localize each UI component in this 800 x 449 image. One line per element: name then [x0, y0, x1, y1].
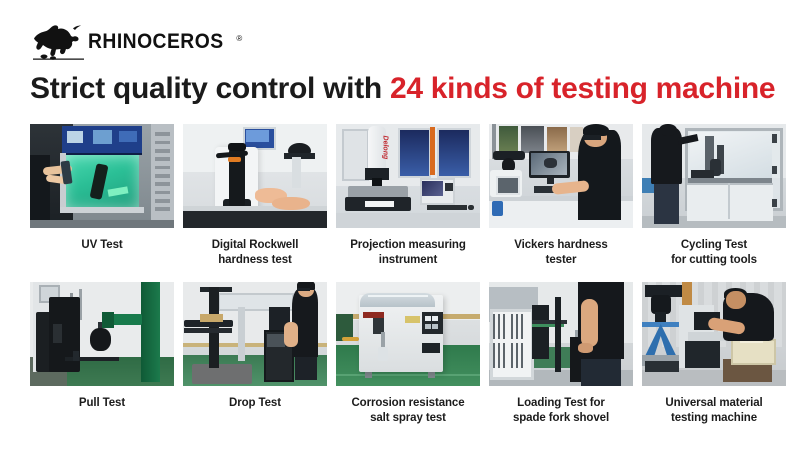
- caption-line-1: Pull Test: [30, 396, 174, 411]
- caption-line-1: UV Test: [30, 238, 174, 253]
- caption-line-1: Cycling Test: [642, 238, 786, 253]
- gallery-row-2: Pull Test Drop Test: [30, 282, 774, 425]
- caption-line-2: for cutting tools: [642, 253, 786, 268]
- digital-rockwell-hardness-tester-photo: [183, 124, 327, 228]
- projection-brand-label: Delong: [366, 136, 389, 152]
- title-lead: Strict quality control with: [30, 72, 390, 105]
- gallery-caption: Projection measuring instrument: [336, 238, 480, 267]
- gallery-item-universal-material[interactable]: Universal material testing machine: [642, 282, 786, 425]
- gallery-item-uv-test[interactable]: UV Test: [30, 124, 174, 267]
- caption-line-2: spade fork shovel: [489, 411, 633, 426]
- vickers-hardness-tester-photo: [489, 124, 633, 228]
- registered-mark: ®: [236, 35, 242, 43]
- gallery-item-salt-spray[interactable]: Corrosion resistance salt spray test: [336, 282, 480, 425]
- logo-text: RHINOCEROS: [88, 31, 224, 52]
- gallery-item-drop-test[interactable]: Drop Test: [183, 282, 327, 425]
- gallery-row-1: UV Test Digital Rockwell hardness test: [30, 124, 774, 267]
- caption-line-2: salt spray test: [336, 411, 480, 426]
- caption-line-2: testing machine: [642, 411, 786, 426]
- gallery-caption: Cycling Test for cutting tools: [642, 238, 786, 267]
- logo-wordmark: RHINOCEROS ®: [88, 31, 242, 52]
- caption-line-1: Drop Test: [183, 396, 327, 411]
- gallery-caption: Universal material testing machine: [642, 396, 786, 425]
- gallery-item-loading-test[interactable]: Loading Test for spade fork shovel: [489, 282, 633, 425]
- pull-test-rig-photo: [30, 282, 174, 386]
- testing-machine-gallery: UV Test Digital Rockwell hardness test: [30, 124, 774, 426]
- projection-measuring-instrument-photo: Delong: [336, 124, 480, 228]
- page-title: Strict quality control with 24 kinds of …: [30, 72, 778, 105]
- caption-line-2: instrument: [336, 253, 480, 268]
- gallery-caption: Drop Test: [183, 396, 327, 411]
- caption-line-1: Corrosion resistance: [336, 396, 480, 411]
- gallery-item-cycling-test[interactable]: Cycling Test for cutting tools: [642, 124, 786, 267]
- gallery-item-vickers-hardness[interactable]: Vickers hardness tester: [489, 124, 633, 267]
- brand-logo: RHINOCEROS ®: [30, 20, 230, 62]
- gallery-item-projection-measuring[interactable]: Delong Projection measuring instrument: [336, 124, 480, 267]
- gallery-item-digital-rockwell[interactable]: Digital Rockwell hardness test: [183, 124, 327, 267]
- drop-test-rig-photo: [183, 282, 327, 386]
- gallery-caption: Vickers hardness tester: [489, 238, 633, 267]
- caption-line-1: Loading Test for: [489, 396, 633, 411]
- uv-test-chamber-photo: [30, 124, 174, 228]
- gallery-item-pull-test[interactable]: Pull Test: [30, 282, 174, 425]
- title-highlight: 24 kinds of testing machine: [390, 72, 775, 105]
- universal-material-testing-machine-photo: [642, 282, 786, 386]
- caption-line-2: hardness test: [183, 253, 327, 268]
- slide-page: RHINOCEROS ® Strict quality control with…: [0, 0, 800, 449]
- rhinoceros-silhouette-icon: [30, 21, 86, 61]
- cycling-test-machine-photo: [642, 124, 786, 228]
- gallery-caption: Corrosion resistance salt spray test: [336, 396, 480, 425]
- caption-line-1: Vickers hardness: [489, 238, 633, 253]
- gallery-caption: Digital Rockwell hardness test: [183, 238, 327, 267]
- caption-line-1: Projection measuring: [336, 238, 480, 253]
- gallery-caption: Loading Test for spade fork shovel: [489, 396, 633, 425]
- loading-test-rig-photo: [489, 282, 633, 386]
- salt-spray-chamber-photo: [336, 282, 480, 386]
- gallery-caption: Pull Test: [30, 396, 174, 411]
- gallery-caption: UV Test: [30, 238, 174, 253]
- caption-line-2: tester: [489, 253, 633, 268]
- caption-line-1: Universal material: [642, 396, 786, 411]
- caption-line-1: Digital Rockwell: [183, 238, 327, 253]
